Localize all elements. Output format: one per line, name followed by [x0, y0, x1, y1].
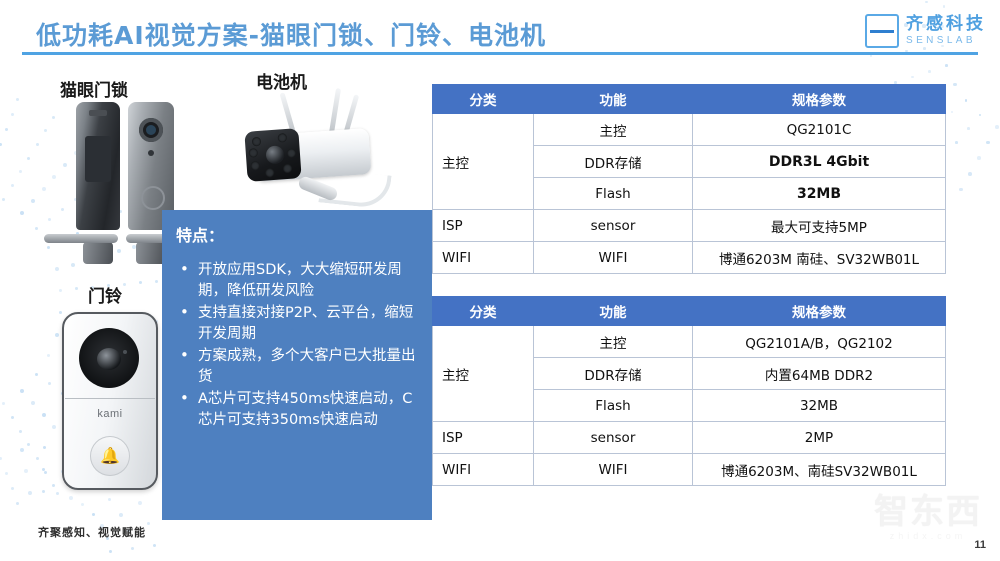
footer-slogan: 齐聚感知、视觉赋能: [38, 524, 146, 540]
feature-box: 特点： 开放应用SDK，大大缩短研发周期，降低研发风险支持直接对接P2P、云平台…: [162, 210, 432, 520]
cell-spec: 内置64MB DDR2: [693, 358, 946, 390]
lock-camera-icon: [139, 118, 163, 142]
cell-function: Flash: [534, 390, 693, 422]
cell-function: DDR存储: [534, 358, 693, 390]
title-underline: [22, 52, 978, 55]
cell-category: 主控: [433, 114, 534, 210]
column-header: 功能: [534, 297, 693, 326]
cell-spec: 32MB: [693, 178, 946, 210]
table-row: 主控主控QG2101A/B，QG2102: [433, 326, 946, 358]
column-header: 功能: [534, 85, 693, 114]
product-label-doorbell: 门铃: [88, 282, 122, 307]
video-doorbell-image: kami 🔔: [62, 312, 158, 490]
cell-spec: 博通6203M 南硅、SV32WB01L: [693, 242, 946, 274]
feature-box-title: 特点：: [162, 210, 432, 246]
cell-function: sensor: [534, 422, 693, 454]
doorbell-brand-label: kami: [62, 408, 158, 420]
cell-function: DDR存储: [534, 146, 693, 178]
battery-camera-image: [236, 88, 414, 218]
camera-lens-icon: [265, 145, 284, 164]
column-header: 分类: [433, 85, 534, 114]
column-header: 规格参数: [693, 85, 946, 114]
table-row: ISPsensor2MP: [433, 422, 946, 454]
cell-function: 主控: [534, 326, 693, 358]
column-header: 分类: [433, 297, 534, 326]
watermark-en: zhidx.com: [874, 531, 982, 541]
column-header: 规格参数: [693, 297, 946, 326]
table-row: ISPsensor最大可支持5MP: [433, 210, 946, 242]
doorbell-bell-icon: 🔔: [90, 436, 130, 476]
cell-spec: 博通6203M、南硅SV32WB01L: [693, 454, 946, 486]
product-label-battery-camera: 电池机: [256, 68, 307, 93]
feature-bullet-list: 开放应用SDK，大大缩短研发周期，降低研发风险支持直接对接P2P、云平台，缩短开…: [162, 260, 432, 431]
cell-function: WIFI: [534, 454, 693, 486]
cell-spec: 最大可支持5MP: [693, 210, 946, 242]
watermark-cn: 智东西: [874, 495, 982, 529]
lock-back-panel: [76, 102, 120, 230]
logo-name-cn: 齐感科技: [906, 16, 986, 33]
cell-spec: 2MP: [693, 422, 946, 454]
table-row: WIFIWIFI博通6203M、南硅SV32WB01L: [433, 454, 946, 486]
cell-category: ISP: [433, 422, 534, 454]
cell-spec: QG2101A/B，QG2102: [693, 326, 946, 358]
camera-head: [244, 128, 301, 182]
feature-bullet: 开放应用SDK，大大缩短研发周期，降低研发风险: [178, 260, 422, 301]
cell-spec: DDR3L 4Gbit: [693, 146, 946, 178]
cell-spec: 32MB: [693, 390, 946, 422]
page-title: 低功耗AI视觉方案-猫眼门锁、门铃、电池机: [36, 16, 546, 52]
cell-spec: QG2101C: [693, 114, 946, 146]
cell-function: Flash: [534, 178, 693, 210]
cell-function: 主控: [534, 114, 693, 146]
table-row: 主控主控QG2101C: [433, 114, 946, 146]
feature-bullet: A芯片可支持450ms快速启动，C芯片可支持350ms快速启动: [178, 389, 422, 430]
table-row: WIFIWIFI博通6203M 南硅、SV32WB01L: [433, 242, 946, 274]
logo-name-en: SENSLAB: [906, 36, 986, 46]
cell-category: 主控: [433, 326, 534, 422]
cell-category: WIFI: [433, 454, 534, 486]
cell-category: WIFI: [433, 242, 534, 274]
slide-canvas: 低功耗AI视觉方案-猫眼门锁、门铃、电池机 齐感科技 SENSLAB 猫眼门锁 …: [0, 0, 1000, 561]
table-header-row: 分类功能规格参数: [433, 297, 946, 326]
cell-category: ISP: [433, 210, 534, 242]
logo-chip-icon: [865, 14, 899, 48]
table-header-row: 分类功能规格参数: [433, 85, 946, 114]
spec-table-2: 分类功能规格参数主控主控QG2101A/B，QG2102DDR存储内置64MB …: [432, 296, 946, 486]
spec-table-1: 分类功能规格参数主控主控QG2101CDDR存储DDR3L 4GbitFlash…: [432, 84, 946, 274]
cell-function: WIFI: [534, 242, 693, 274]
lock-handle: [44, 234, 118, 243]
product-label-door-lock: 猫眼门锁: [60, 76, 128, 101]
page-number: 11: [974, 539, 986, 551]
feature-bullet: 方案成熟，多个大客户已大批量出货: [178, 346, 422, 387]
cell-function: sensor: [534, 210, 693, 242]
feature-bullet: 支持直接对接P2P、云平台，缩短开发周期: [178, 303, 422, 344]
company-logo: 齐感科技 SENSLAB: [865, 14, 986, 48]
watermark: 智东西 zhidx.com: [874, 495, 982, 541]
doorbell-camera-icon: [79, 328, 139, 388]
